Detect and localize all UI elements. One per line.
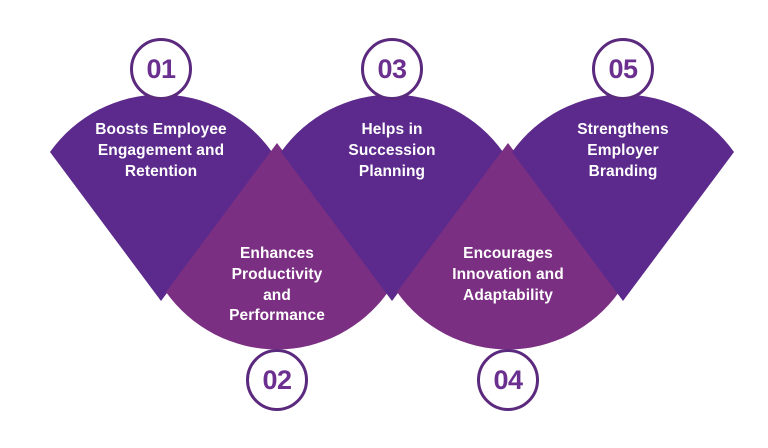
step-badge-1[interactable]: 01 <box>130 38 192 100</box>
step-badge-2[interactable]: 02 <box>246 349 308 411</box>
infographic-canvas: Boosts Employee Engagement and Retention… <box>0 0 768 448</box>
step-badge-3[interactable]: 03 <box>361 38 423 100</box>
step-badge-4[interactable]: 04 <box>477 349 539 411</box>
step-badge-5[interactable]: 05 <box>592 38 654 100</box>
